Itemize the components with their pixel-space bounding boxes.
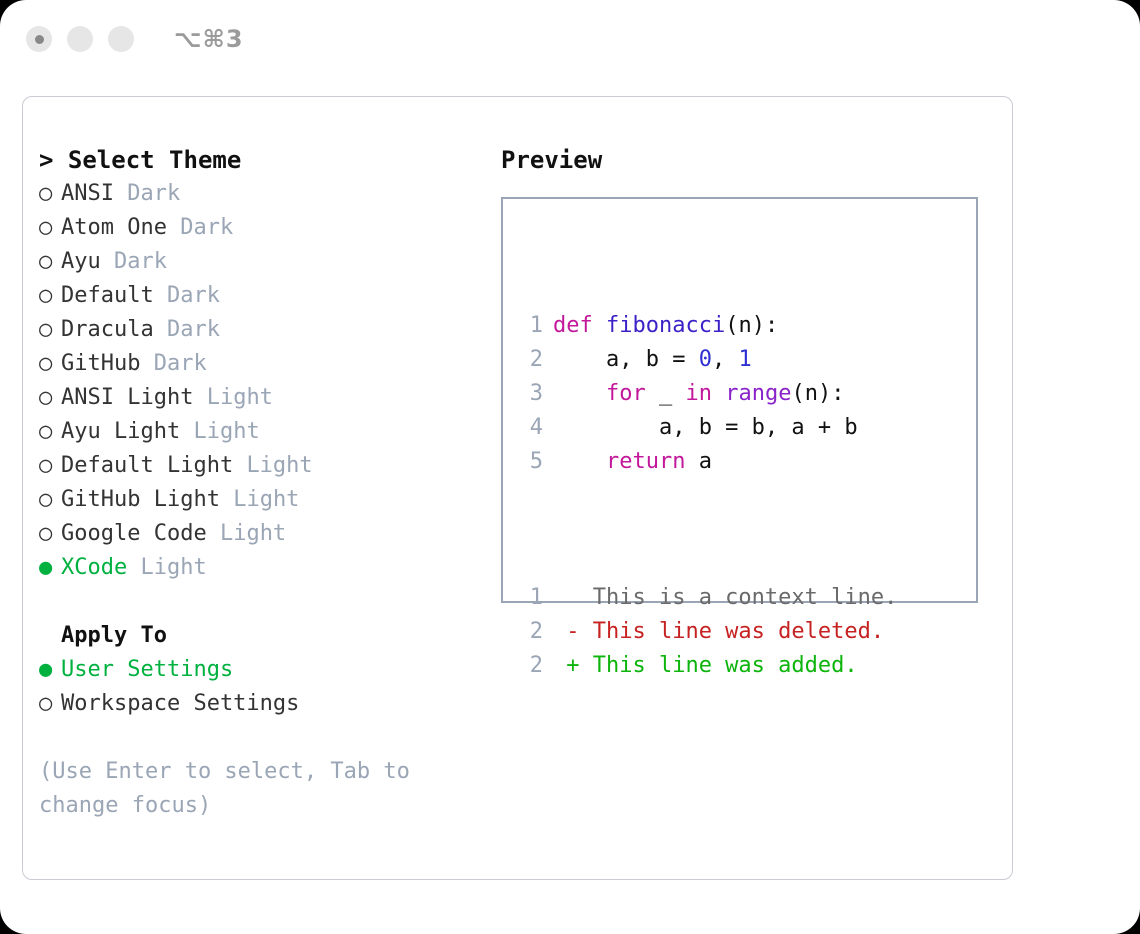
code-token: (n): xyxy=(725,313,778,338)
code-token: 1 xyxy=(738,347,751,372)
diff-line-add: 2 + This line was added. xyxy=(519,649,897,683)
theme-variant-badge: Dark xyxy=(114,249,167,274)
radio-unselected-icon: ○ xyxy=(39,245,61,279)
line-number: 1 xyxy=(519,309,543,343)
code-token: (n): xyxy=(791,381,844,406)
window-dot-active-icon[interactable] xyxy=(26,26,52,52)
line-number: 2 xyxy=(519,343,543,377)
theme-option-default[interactable]: ○Default Dark xyxy=(39,279,499,313)
theme-variant-badge: Dark xyxy=(180,215,233,240)
theme-variant-badge: Light xyxy=(233,487,299,512)
code-line: 2 a, b = 0, 1 xyxy=(519,343,897,377)
line-number: 2 xyxy=(519,649,543,683)
code-token: a xyxy=(685,449,712,474)
radio-unselected-icon: ○ xyxy=(39,381,61,415)
line-number: 4 xyxy=(519,411,543,445)
theme-option-label: XCode xyxy=(61,555,127,580)
theme-option-ansi-light[interactable]: ○ANSI Light Light xyxy=(39,381,499,415)
window-dot-third-icon[interactable] xyxy=(108,26,134,52)
diff-lines: 1 This is a context line.2 - This line w… xyxy=(519,581,897,683)
theme-variant-badge: Light xyxy=(193,419,259,444)
code-token: a, b = xyxy=(553,347,699,372)
code-token xyxy=(593,313,606,338)
theme-option-label: Atom One xyxy=(61,215,167,240)
code-token: , xyxy=(712,347,739,372)
keyboard-shortcut-label: ⌥⌘3 xyxy=(174,25,244,53)
code-line: 1def fibonacci(n): xyxy=(519,309,897,343)
preview-box: 1def fibonacci(n):2 a, b = 0, 13 for _ i… xyxy=(501,197,978,603)
theme-option-ayu[interactable]: ○Ayu Dark xyxy=(39,245,499,279)
theme-variant-badge: Light xyxy=(140,555,206,580)
theme-option-ansi[interactable]: ○ANSI Dark xyxy=(39,177,499,211)
theme-option-ayu-light[interactable]: ○Ayu Light Light xyxy=(39,415,499,449)
radio-unselected-icon: ○ xyxy=(39,687,61,721)
theme-option-atom-one[interactable]: ○Atom One Dark xyxy=(39,211,499,245)
theme-variant-badge: Dark xyxy=(154,351,207,376)
theme-variant-badge: Dark xyxy=(167,283,220,308)
code-token: 0 xyxy=(699,347,712,372)
radio-unselected-icon: ○ xyxy=(39,279,61,313)
window-dot-active-inner xyxy=(35,35,44,44)
theme-option-label: GitHub xyxy=(61,351,140,376)
keyboard-hint: (Use Enter to select, Tab to change focu… xyxy=(39,755,459,823)
code-token: in xyxy=(685,381,712,406)
theme-option-label: Default Light xyxy=(61,453,233,478)
diff-line-text: This is a context line. xyxy=(553,585,897,610)
line-number: 3 xyxy=(519,377,543,411)
theme-option-xcode[interactable]: ●XCode Light xyxy=(39,551,499,585)
theme-option-label: Google Code xyxy=(61,521,207,546)
panel-columns: > Select Theme ○ANSI Dark○Atom One Dark○… xyxy=(23,97,1012,879)
apply-to-option-user-settings[interactable]: ●User Settings xyxy=(39,653,499,687)
line-number: 2 xyxy=(519,615,543,649)
theme-option-github-light[interactable]: ○GitHub Light Light xyxy=(39,483,499,517)
code-token: range xyxy=(725,381,791,406)
theme-variant-badge: Light xyxy=(207,385,273,410)
theme-option-label: ANSI Light xyxy=(61,385,193,410)
code-line: 5 return a xyxy=(519,445,897,479)
theme-variant-badge: Dark xyxy=(127,181,180,206)
diff-line-text: + This line was added. xyxy=(553,653,858,678)
theme-selector-column: > Select Theme ○ANSI Dark○Atom One Dark○… xyxy=(39,143,499,823)
radio-unselected-icon: ○ xyxy=(39,313,61,347)
apply-to-list: ●User Settings○Workspace Settings xyxy=(39,653,499,721)
radio-unselected-icon: ○ xyxy=(39,211,61,245)
code-token: def xyxy=(553,313,593,338)
radio-selected-icon: ● xyxy=(39,653,61,687)
radio-unselected-icon: ○ xyxy=(39,347,61,381)
diff-line-text: - This line was deleted. xyxy=(553,619,884,644)
apply-to-option-label: Workspace Settings xyxy=(61,691,299,716)
theme-variant-badge: Light xyxy=(246,453,312,478)
theme-option-google-code[interactable]: ○Google Code Light xyxy=(39,517,499,551)
apply-to-option-label: User Settings xyxy=(61,657,233,682)
theme-option-label: Default xyxy=(61,283,154,308)
window-dot-second-icon[interactable] xyxy=(67,26,93,52)
title-bar: ⌥⌘3 xyxy=(0,0,1140,78)
radio-unselected-icon: ○ xyxy=(39,483,61,517)
theme-option-label: Ayu Light xyxy=(61,419,180,444)
code-token xyxy=(553,449,606,474)
radio-unselected-icon: ○ xyxy=(39,449,61,483)
code-sample: 1def fibonacci(n):2 a, b = 0, 13 for _ i… xyxy=(519,241,897,751)
theme-option-github[interactable]: ○GitHub Dark xyxy=(39,347,499,381)
theme-option-dracula[interactable]: ○Dracula Dark xyxy=(39,313,499,347)
line-number: 1 xyxy=(519,581,543,615)
code-token xyxy=(712,381,725,406)
radio-selected-icon: ● xyxy=(39,551,61,585)
diff-line-del: 2 - This line was deleted. xyxy=(519,615,897,649)
code-token: fibonacci xyxy=(606,313,725,338)
line-number: 5 xyxy=(519,445,543,479)
radio-unselected-icon: ○ xyxy=(39,415,61,449)
code-token: return xyxy=(606,449,685,474)
theme-option-label: Ayu xyxy=(61,249,101,274)
code-token: _ xyxy=(646,381,686,406)
theme-option-label: GitHub Light xyxy=(61,487,220,512)
diff-line-ctx: 1 This is a context line. xyxy=(519,581,897,615)
code-token xyxy=(553,381,606,406)
code-lines: 1def fibonacci(n):2 a, b = 0, 13 for _ i… xyxy=(519,309,897,479)
list-spacer xyxy=(39,585,499,619)
theme-option-default-light[interactable]: ○Default Light Light xyxy=(39,449,499,483)
preview-heading: Preview xyxy=(501,143,1001,177)
apply-to-option-workspace-settings[interactable]: ○Workspace Settings xyxy=(39,687,499,721)
select-theme-heading: > Select Theme xyxy=(39,143,499,177)
theme-list: ○ANSI Dark○Atom One Dark○Ayu Dark○Defaul… xyxy=(39,177,499,585)
theme-variant-badge: Light xyxy=(220,521,286,546)
theme-option-label: Dracula xyxy=(61,317,154,342)
app-window: ⌥⌘3 > Select Theme ○ANSI Dark○Atom One D… xyxy=(0,0,1140,934)
code-token: a, b = b, a + b xyxy=(553,415,858,440)
code-line: 3 for _ in range(n): xyxy=(519,377,897,411)
window-controls xyxy=(26,26,134,52)
preview-column: Preview 1def fibonacci(n):2 a, b = 0, 13… xyxy=(501,143,1001,603)
radio-unselected-icon: ○ xyxy=(39,517,61,551)
code-token: for xyxy=(606,381,646,406)
radio-unselected-icon: ○ xyxy=(39,177,61,211)
apply-to-heading: Apply To xyxy=(39,619,499,653)
code-line: 4 a, b = b, a + b xyxy=(519,411,897,445)
theme-option-label: ANSI xyxy=(61,181,114,206)
main-panel: > Select Theme ○ANSI Dark○Atom One Dark○… xyxy=(22,96,1013,880)
theme-variant-badge: Dark xyxy=(167,317,220,342)
